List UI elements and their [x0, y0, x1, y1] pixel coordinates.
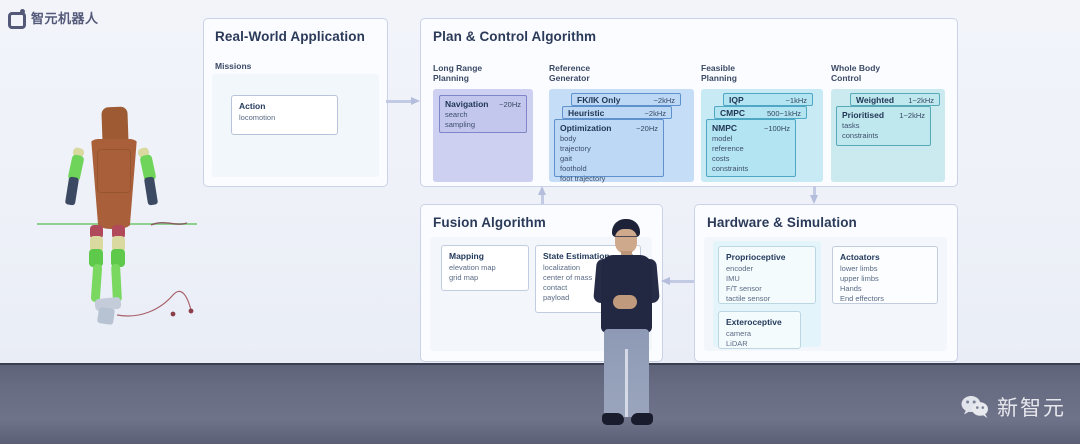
panel-title-plan-control: Plan & Control Algorithm	[433, 29, 596, 44]
card-fk-ik-only-name: FK/IK Only	[577, 95, 620, 105]
column-title-whole-body-control: Whole Body Control	[831, 63, 880, 84]
card-nmpc[interactable]: NMPC ~100Hz model reference costs constr…	[706, 119, 796, 177]
panel-real-world-application: Real-World Application Missions Action l…	[203, 18, 388, 187]
card-optimization-name: Optimization	[560, 123, 611, 133]
card-weighted[interactable]: Weighted 1~2kHz	[850, 93, 940, 106]
card-proprioceptive-items: encoder IMU F/T sensor tactile sensor	[726, 264, 808, 304]
card-action-name: Action	[239, 101, 330, 111]
card-exteroceptive[interactable]: Exteroceptive camera LiDAR	[718, 311, 801, 349]
watermark-text: 新智元	[997, 392, 1066, 422]
column-body-feasible-planning: IQP ~1kHz CMPC 500~1kHz NMPC ~100Hz mod	[701, 89, 823, 182]
card-cmpc-name: CMPC	[720, 108, 745, 118]
hardware-body: Proprioceptive encoder IMU F/T sensor ta…	[704, 237, 947, 351]
stage-floor	[0, 363, 1080, 444]
wechat-icon	[960, 395, 990, 419]
brand-logo: 智元机器人	[8, 8, 99, 27]
arrow-plan-to-hardware	[810, 186, 819, 204]
card-optimization-hz: ~20Hz	[636, 124, 658, 133]
card-weighted-name: Weighted	[856, 95, 894, 105]
card-fk-ik-only[interactable]: FK/IK Only ~2kHz	[571, 93, 681, 106]
card-iqp-name: IQP	[729, 95, 744, 105]
column-title-reference-generator: Reference Generator	[549, 63, 590, 84]
watermark: 新智元	[960, 392, 1066, 422]
column-body-reference-generator: FK/IK Only ~2kHz Heuristic ~2kHz Optimiz…	[549, 89, 694, 182]
brand-logo-text: 智元机器人	[31, 8, 99, 27]
card-proprioceptive[interactable]: Proprioceptive encoder IMU F/T sensor ta…	[718, 246, 816, 304]
card-actoators-name: Actoators	[840, 252, 930, 262]
panel-title-hardware-simulation: Hardware & Simulation	[707, 215, 857, 230]
missions-label: Missions	[215, 61, 251, 71]
card-exteroceptive-items: camera LiDAR	[726, 329, 793, 349]
card-cmpc[interactable]: CMPC 500~1kHz	[714, 106, 807, 119]
agibot-logo-icon	[8, 9, 25, 26]
trajectory-trace-icon	[55, 105, 180, 335]
column-title-long-range-planning: Long Range Planning	[433, 63, 482, 84]
card-navigation-name: Navigation	[445, 99, 488, 109]
card-prioritised-name: Prioritised	[842, 110, 884, 120]
panel-plan-control-algorithm: Plan & Control Algorithm Long Range Plan…	[420, 18, 958, 187]
presentation-stage: 智元机器人 Real-World Application Missions Ac…	[0, 0, 1080, 444]
card-action-items: locomotion	[239, 113, 330, 123]
card-nmpc-name: NMPC	[712, 123, 737, 133]
card-mapping-name: Mapping	[449, 251, 521, 261]
card-heuristic-hz: ~2kHz	[645, 109, 666, 118]
card-nmpc-hz: ~100Hz	[764, 124, 790, 133]
robot-simulation-figure	[55, 105, 180, 335]
column-title-feasible-planning: Feasible Planning	[701, 63, 737, 84]
card-navigation[interactable]: Navigation ~20Hz search sampling	[439, 95, 527, 133]
panel-hardware-simulation: Hardware & Simulation Proprioceptive enc…	[694, 204, 958, 362]
card-optimization-items: body trajectory gait foothold foot traje…	[560, 134, 658, 183]
card-prioritised-items: tasks constraints	[842, 121, 925, 141]
card-weighted-hz: 1~2kHz	[908, 96, 934, 105]
panel-title-real-world-application: Real-World Application	[215, 29, 365, 44]
arrow-fusion-to-plan	[538, 186, 547, 204]
card-iqp-hz: ~1kHz	[786, 96, 807, 105]
card-heuristic-name: Heuristic	[568, 108, 604, 118]
presenter-person	[583, 219, 669, 444]
card-mapping[interactable]: Mapping elevation map grid map	[441, 245, 529, 291]
card-cmpc-hz: 500~1kHz	[767, 109, 801, 118]
card-heuristic[interactable]: Heuristic ~2kHz	[562, 106, 672, 119]
card-action[interactable]: Action locomotion	[231, 95, 338, 135]
card-navigation-hz: ~20Hz	[499, 100, 521, 109]
arrow-rwa-to-plan	[386, 97, 420, 106]
column-body-whole-body-control: Weighted 1~2kHz Prioritised 1~2kHz tasks…	[831, 89, 945, 182]
panel-title-fusion-algorithm: Fusion Algorithm	[433, 215, 546, 230]
card-optimization[interactable]: Optimization ~20Hz body trajectory gait …	[554, 119, 664, 177]
column-body-long-range-planning: Navigation ~20Hz search sampling	[433, 89, 533, 182]
card-prioritised[interactable]: Prioritised 1~2kHz tasks constraints	[836, 106, 931, 146]
card-actoators-items: lower limbs upper limbs Hands End effect…	[840, 264, 930, 304]
card-iqp[interactable]: IQP ~1kHz	[723, 93, 813, 106]
missions-body: Action locomotion	[212, 74, 379, 177]
card-mapping-items: elevation map grid map	[449, 263, 521, 283]
card-actoators[interactable]: Actoators lower limbs upper limbs Hands …	[832, 246, 938, 304]
card-fk-ik-only-hz: ~2kHz	[654, 96, 675, 105]
card-navigation-items: search sampling	[445, 110, 521, 130]
card-proprioceptive-name: Proprioceptive	[726, 252, 808, 262]
card-nmpc-items: model reference costs constraints	[712, 134, 790, 174]
card-prioritised-hz: 1~2kHz	[899, 111, 925, 120]
card-exteroceptive-name: Exteroceptive	[726, 317, 793, 327]
